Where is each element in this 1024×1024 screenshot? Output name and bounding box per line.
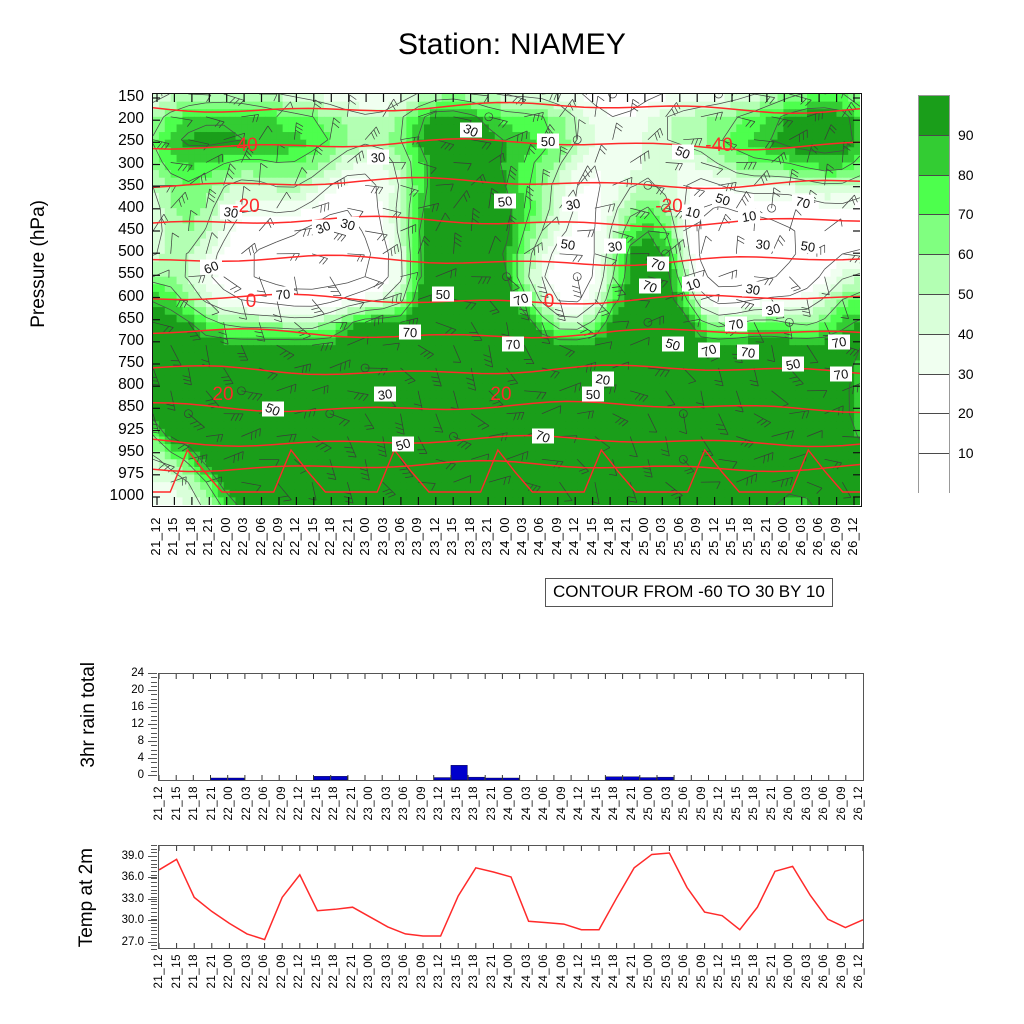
x-tick-label: 25_18 [741,517,754,556]
rain-y-tick: 20 [100,685,144,697]
x-tick-label: 23_00 [364,786,376,820]
main-y-tick: 750 [78,355,144,371]
x-tick-label: 23_06 [399,954,411,988]
isotherm-label: 0 [544,291,555,312]
colorbar-tick-label: 10 [958,446,974,460]
humidity-cross-section-plot[interactable]: 3050503050305070303030506070707050703030… [152,93,862,507]
rain-y-minor-tickmark [151,682,157,683]
x-tick-label: 22_12 [288,517,301,556]
rain-bar [623,777,639,780]
main-y-tick: 850 [78,399,144,415]
x-tick-label: 26_00 [784,954,796,988]
colorbar-swatch [919,136,949,176]
x-tick-label: 21_18 [184,517,197,556]
temp-y-minor-tickmark [151,852,157,853]
main-y-tick: 975 [78,466,144,482]
x-tick-label: 24_00 [504,786,516,820]
temp-y-minor-tickmark [151,945,157,946]
rh-contour-label: 50 [582,387,604,403]
rh-contour-label: 30 [367,149,389,165]
rh-contour-label: 70 [828,334,850,351]
x-tick-label: 25_21 [767,786,779,820]
x-tick-label: 24_15 [585,517,598,556]
x-tick-label: 26_09 [837,786,849,820]
x-tick-label: 22_12 [294,786,306,820]
rain-bar [485,778,501,780]
main-y-tick: 950 [78,444,144,460]
rh-contour-label: 50 [537,134,559,150]
x-tick-label: 23_09 [417,786,429,820]
rain-y-tick: 24 [100,668,144,680]
temp-y-tick: 39.0 [92,851,144,863]
rh-contour-label: 70 [639,277,661,296]
temp-y-minor-tickmark [151,875,157,876]
x-tick-label: 22_15 [306,517,319,556]
isotherm-label: -40 [705,135,732,156]
x-tick-label: 22_06 [259,954,271,988]
rh-contour-label: 50 [797,238,819,255]
x-tick-label: 22_15 [312,786,324,820]
temp-y-tick: 33.0 [92,894,144,906]
temp-y-minor-tickmark [151,904,157,905]
colorbar-swatch [919,255,949,295]
temp-y-minor-tickmark [151,871,157,872]
rain-bar [657,777,673,780]
rain-y-minor-tickmark [151,720,157,721]
rh-contour-label: 50 [432,287,454,303]
rain-y-minor-tickmark [151,703,157,704]
x-tick-label: 25_03 [662,954,674,988]
temp-y-tick: 30.0 [92,915,144,927]
x-tick-label: 23_21 [487,954,499,988]
x-tick-label: 24_00 [504,954,516,988]
x-tick-label: 25_00 [644,786,656,820]
x-tick-label: 22_09 [271,517,284,556]
x-tick-label: 23_18 [469,954,481,988]
x-tick-label: 23_12 [434,954,446,988]
temp-y-tickmark [148,920,157,921]
rain-bar-svg [159,674,863,780]
x-tick-label: 21_12 [149,517,162,556]
x-tick-label: 23_15 [445,517,458,556]
x-tick-label: 21_21 [207,786,219,820]
x-tick-label: 24_00 [498,517,511,556]
x-tick-label: 24_06 [532,517,545,556]
x-tick-label: 26_12 [846,517,859,556]
x-tick-label: 23_06 [399,786,411,820]
rain-y-tick: 12 [100,719,144,731]
rain-bar [314,776,330,780]
x-tick-label: 24_03 [522,954,534,988]
x-tick-label: 22_21 [347,954,359,988]
x-tick-label: 25_06 [679,786,691,820]
rh-contour-label: 70 [502,337,524,353]
temp-y-minor-tickmark [151,890,157,891]
x-tick-label: 26_06 [811,517,824,556]
rain-y-minor-tickmark [151,737,157,738]
x-tick-label: 25_06 [672,517,685,556]
x-tick-label: 24_09 [557,954,569,988]
rain-bar [640,778,656,780]
temp-y-minor-tickmark [151,927,157,928]
x-tick-label: 25_12 [714,786,726,820]
x-tick-label: 26_03 [802,786,814,820]
x-tick-label: 22_21 [347,786,359,820]
x-tick-label: 23_06 [393,517,406,556]
x-tick-label: 22_15 [312,954,324,988]
rh-contour-label: 70 [698,341,720,360]
temp-y-minor-tickmark [151,897,157,898]
x-tick-label: 26_12 [854,954,866,988]
main-y-tick: 1000 [78,488,144,504]
rain-y-minor-tickmark [151,724,157,725]
temp-y-minor-tickmark [151,942,157,943]
x-tick-label: 23_15 [452,954,464,988]
rh-contour-label: 30 [460,121,482,141]
temp-y-minor-tickmark [151,860,157,861]
x-tick-label: 24_03 [515,517,528,556]
main-y-tick: 150 [78,89,144,105]
x-tick-label: 21_15 [172,954,184,988]
colorbar-tick-label: 40 [958,327,974,341]
colorbar-swatch [919,176,949,216]
x-tick-label: 23_09 [410,517,423,556]
x-tick-label: 22_18 [323,517,336,556]
humidity-colorbar[interactable] [918,95,950,493]
x-tick-label: 24_18 [609,786,621,820]
colorbar-swatch [919,454,949,494]
temp-y-tick: 27.0 [92,937,144,949]
x-tick-label: 25_15 [732,786,744,820]
isotherm-label: -20 [232,196,259,217]
rain-y-minor-tickmark [151,741,157,742]
temp-y-minor-tickmark [151,930,157,931]
rh-contour-label: 70 [272,286,294,302]
x-tick-label: 23_00 [358,517,371,556]
temp-y-minor-tickmark [151,923,157,924]
x-tick-label: 26_06 [819,954,831,988]
rain-y-minor-tickmark [151,767,157,768]
main-y-tick: 925 [78,422,144,438]
rain-y-minor-tickmark [151,775,157,776]
rh-contour-label: 30 [752,236,774,252]
x-tick-label: 24_12 [567,517,580,556]
temp-y-minor-tickmark [151,912,157,913]
temp-y-minor-tickmark [151,856,157,857]
rh-contour-label: 50 [672,143,694,162]
main-y-tick: 550 [78,266,144,282]
colorbar-tick-label: 20 [958,406,974,420]
rain-y-minor-tickmark [151,707,157,708]
rh-contour-label: 70 [532,427,554,446]
cross-section-svg: 3050503050305070303030506070707050703030… [153,94,860,505]
rh-contour-label: 70 [399,325,421,341]
temp-y-minor-tickmark [151,886,157,887]
colorbar-tick-label: 30 [958,367,974,381]
main-y-tick: 250 [78,133,144,149]
rain-bar [468,777,484,780]
rh-contour-label: 70 [510,290,532,309]
x-tick-label: 22_12 [294,954,306,988]
rh-contour-label: 50 [662,335,684,354]
isotherm-label: -20 [655,196,682,217]
rain-y-minor-tickmark [151,733,157,734]
x-tick-label: 24_03 [522,786,534,820]
x-tick-label: 22_03 [236,517,249,556]
rh-contour-label: 50 [392,435,414,454]
rain-y-minor-tickmark [151,754,157,755]
isotherm-label: 0 [246,291,257,312]
x-tick-label: 25_00 [637,517,650,556]
isotherm-label: -40 [230,135,257,156]
x-tick-label: 22_21 [341,517,354,556]
x-tick-label: 25_15 [732,954,744,988]
colorbar-tick-label: 50 [958,287,974,301]
rain-y-minor-tickmark [151,771,157,772]
x-tick-label: 21_15 [166,517,179,556]
x-tick-label: 23_03 [382,786,394,820]
temp-y-minor-tickmark [151,882,157,883]
temp-y-minor-tickmark [151,916,157,917]
isotherm-label: 20 [212,384,233,405]
main-y-tick: 700 [78,333,144,349]
colorbar-swatch [919,335,949,375]
rh-contour-label: 70 [792,193,814,211]
x-tick-label: 25_00 [644,954,656,988]
rain-bar [331,776,347,780]
rh-contour-label: 50 [712,190,734,209]
x-tick-label: 26_03 [802,954,814,988]
colorbar-swatch [919,215,949,255]
x-tick-label: 26_00 [776,517,789,556]
rain-y-minor-tickmark [151,745,157,746]
temp-y-minor-tickmark [151,864,157,865]
rain-y-minor-tickmark [151,711,157,712]
rh-contour-label: 30 [337,215,359,233]
x-tick-label: 22_18 [329,786,341,820]
rh-contour-label: 50 [557,236,579,253]
x-tick-label: 21_12 [154,786,166,820]
temp-y-minor-tickmark [151,845,157,846]
temp-y-tick: 36.0 [92,872,144,884]
rh-contour-label: 30 [312,218,334,237]
rh-contour-label: 30 [604,238,626,255]
x-tick-label: 26_06 [819,786,831,820]
temp-y-minor-tickmark [151,893,157,894]
temp-y-minor-tickmark [151,934,157,935]
temp-y-minor-tickmark [151,938,157,939]
x-tick-label: 23_15 [452,786,464,820]
main-y-tick: 650 [78,311,144,327]
x-tick-label: 23_18 [463,517,476,556]
contour-interval-note: CONTOUR FROM -60 TO 30 BY 10 [545,578,833,607]
main-y-tick: 400 [78,200,144,216]
temp-y-minor-tickmark [151,949,157,950]
rh-contour-label: 10 [682,203,704,221]
main-y-tick: 350 [78,178,144,194]
x-tick-label: 22_09 [277,954,289,988]
x-tick-label: 23_18 [469,786,481,820]
rh-contour-label: 50 [782,356,804,374]
main-y-tick: 600 [78,289,144,305]
x-tick-label: 24_18 [602,517,615,556]
x-tick-label: 24_12 [574,786,586,820]
x-tick-label: 23_09 [417,954,429,988]
x-tick-label: 26_12 [854,786,866,820]
colorbar-tick-label: 70 [958,207,974,221]
x-tick-label: 21_18 [189,786,201,820]
colorbar-swatch [919,96,949,136]
rh-contour-label: 30 [562,196,584,214]
rain-bar-chart[interactable] [158,673,864,781]
rh-contour-label: 30 [742,281,764,298]
x-tick-label: 25_09 [689,517,702,556]
x-tick-label: 22_03 [242,954,254,988]
rh-contour-label: 70 [725,316,747,333]
temperature-line-svg [159,846,863,948]
x-tick-label: 24_06 [539,954,551,988]
temp-y-minor-tickmark [151,919,157,920]
rh-contour-label: 20 [592,371,614,388]
rh-contour-label: 10 [738,208,760,225]
x-tick-label: 24_12 [574,954,586,988]
rain-bar [451,765,467,780]
rain-panel-y-axis-title: 3hr rain total [78,662,100,768]
x-tick-label: 25_12 [707,517,720,556]
x-tick-label: 24_09 [557,786,569,820]
x-tick-label: 25_21 [767,954,779,988]
x-tick-label: 26_00 [784,786,796,820]
colorbar-swatch [919,414,949,454]
rh-contour-label: 50 [262,400,284,419]
main-y-tick: 500 [78,244,144,260]
rain-y-minor-tickmark [151,694,157,695]
x-tick-label: 24_09 [550,517,563,556]
x-tick-label: 22_09 [277,786,289,820]
rain-y-minor-tickmark [151,758,157,759]
temp-y-minor-tickmark [151,849,157,850]
x-tick-label: 22_06 [259,786,271,820]
x-tick-label: 24_21 [627,786,639,820]
x-tick-label: 24_06 [539,786,551,820]
rain-y-tick: 0 [100,770,144,782]
temperature-line-chart[interactable] [158,845,864,949]
rain-bar [434,778,450,780]
rain-y-minor-tickmark [151,690,157,691]
x-tick-label: 25_06 [679,954,691,988]
main-panel-y-axis-title: Pressure (hPa) [28,200,50,328]
rh-contour-label: 70 [737,344,759,361]
x-tick-label: 21_12 [154,954,166,988]
rain-bar [502,778,518,780]
colorbar-tick-label: 90 [958,128,974,142]
x-tick-label: 23_12 [434,786,446,820]
rain-y-minor-tickmark [151,728,157,729]
x-tick-label: 23_12 [428,517,441,556]
x-tick-label: 23_21 [480,517,493,556]
x-tick-label: 21_18 [189,954,201,988]
rh-contour-label: 70 [830,366,852,383]
x-tick-label: 25_21 [759,517,772,556]
x-tick-label: 25_18 [749,786,761,820]
x-tick-label: 25_18 [749,954,761,988]
main-y-tick: 450 [78,222,144,238]
x-tick-label: 25_09 [697,954,709,988]
colorbar-swatch [919,295,949,335]
x-tick-label: 24_15 [592,786,604,820]
main-y-tick: 300 [78,156,144,172]
colorbar-tick-label: 60 [958,247,974,261]
x-tick-label: 22_00 [219,517,232,556]
rh-contour-label: 70 [647,255,669,274]
x-tick-label: 22_18 [329,954,341,988]
x-tick-label: 24_15 [592,954,604,988]
x-tick-label: 25_03 [662,786,674,820]
x-tick-label: 26_03 [794,517,807,556]
x-tick-label: 26_09 [837,954,849,988]
rain-y-tick: 8 [100,736,144,748]
x-tick-label: 25_09 [697,786,709,820]
x-tick-label: 23_03 [376,517,389,556]
x-tick-label: 23_03 [382,954,394,988]
main-y-tick: 200 [78,111,144,127]
x-tick-label: 21_21 [207,954,219,988]
colorbar-swatch [919,375,949,415]
temp-y-minor-tickmark [151,878,157,879]
rh-contour-label: 10 [682,275,704,294]
rh-contour-label: 50 [494,193,516,210]
x-tick-label: 22_03 [242,786,254,820]
colorbar-tick-label: 80 [958,168,974,182]
rain-y-minor-tickmark [151,677,157,678]
rain-y-minor-tickmark [151,762,157,763]
temp-y-minor-tickmark [151,867,157,868]
rain-y-minor-tickmark [151,750,157,751]
temperature-line [159,853,863,940]
isotherm-label: 20 [490,384,511,405]
rain-y-minor-tickmark [151,716,157,717]
page-title: Station: NIAMEY [0,28,1024,62]
x-tick-label: 25_12 [714,954,726,988]
x-tick-label: 22_06 [254,517,267,556]
temp-y-minor-tickmark [151,901,157,902]
x-tick-label: 21_21 [201,517,214,556]
x-tick-label: 25_15 [724,517,737,556]
rh-contour-label: 30 [762,300,784,318]
x-tick-label: 22_00 [224,954,236,988]
rain-y-minor-tickmark [151,686,157,687]
rh-contour-label: 60 [200,258,222,277]
x-tick-label: 23_00 [364,954,376,988]
x-tick-label: 24_21 [619,517,632,556]
temp-y-minor-tickmark [151,908,157,909]
x-tick-label: 22_00 [224,786,236,820]
rh-contour-label: 30 [374,386,396,403]
rain-bar [228,778,244,780]
rain-bar [211,778,227,780]
rain-y-minor-tickmark [151,673,157,674]
x-tick-label: 21_15 [172,786,184,820]
rain-y-tick: 4 [100,753,144,765]
x-tick-label: 23_21 [487,786,499,820]
x-tick-label: 24_18 [609,954,621,988]
x-tick-label: 25_03 [654,517,667,556]
rain-y-minor-tickmark [151,699,157,700]
main-y-tick: 800 [78,377,144,393]
x-tick-label: 26_09 [829,517,842,556]
rain-y-tick: 16 [100,702,144,714]
x-tick-label: 24_21 [627,954,639,988]
